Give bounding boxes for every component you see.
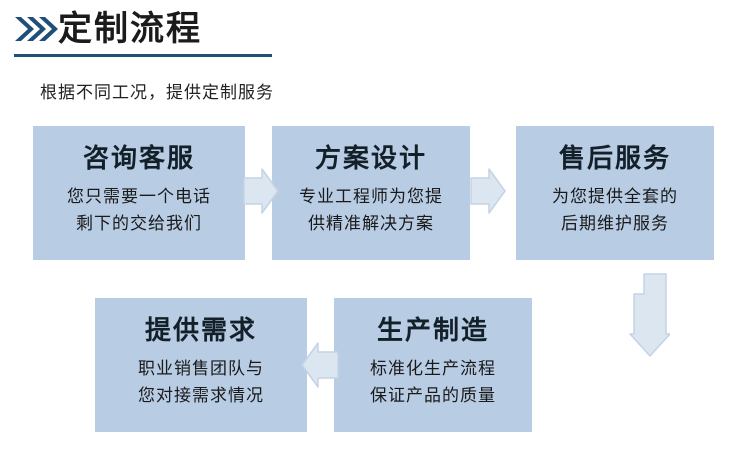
flow-step-consult: 咨询客服 您只需要一个电话 剩下的交给我们 <box>33 126 245 260</box>
flow-step-line: 保证产品的质量 <box>334 382 532 409</box>
flow-step-title: 提供需求 <box>95 315 307 345</box>
page-subtitle: 根据不同工况，提供定制服务 <box>40 78 274 103</box>
arrow-right-icon <box>242 166 280 216</box>
flow-step-line: 您对接需求情况 <box>95 382 307 409</box>
flow-step-line: 您只需要一个电话 <box>33 183 245 210</box>
flow-step-line: 供精准解决方案 <box>272 210 470 237</box>
flow-step-after-sales: 售后服务 为您提供全套的 后期维护服务 <box>516 126 714 260</box>
flow-step-description: 职业销售团队与 您对接需求情况 <box>95 355 307 409</box>
arrow-right-icon <box>469 166 507 216</box>
double-chevron-right-icon <box>14 14 58 44</box>
flow-step-title: 售后服务 <box>516 143 714 173</box>
flow-step-manufacturing: 生产制造 标准化生产流程 保证产品的质量 <box>334 298 532 432</box>
flow-step-description: 您只需要一个电话 剩下的交给我们 <box>33 183 245 237</box>
flow-step-design: 方案设计 专业工程师为您提 供精准解决方案 <box>272 126 470 260</box>
flow-step-description: 标准化生产流程 保证产品的质量 <box>334 355 532 409</box>
flow-step-title: 方案设计 <box>272 143 470 173</box>
flow-step-line: 剩下的交给我们 <box>33 210 245 237</box>
page-title: 定制流程 <box>58 8 202 50</box>
flow-step-line: 为您提供全套的 <box>516 183 714 210</box>
flow-step-title: 咨询客服 <box>33 143 245 173</box>
arrow-left-icon <box>300 340 340 390</box>
flow-step-line: 标准化生产流程 <box>334 355 532 382</box>
arrow-down-left-icon <box>592 272 670 360</box>
flow-step-line: 后期维护服务 <box>516 210 714 237</box>
flow-step-requirements: 提供需求 职业销售团队与 您对接需求情况 <box>95 298 307 432</box>
title-underline <box>14 54 272 57</box>
flow-step-description: 为您提供全套的 后期维护服务 <box>516 183 714 237</box>
flow-step-line: 职业销售团队与 <box>95 355 307 382</box>
page-header: 定制流程 <box>0 0 750 62</box>
flow-step-title: 生产制造 <box>334 315 532 345</box>
flow-step-description: 专业工程师为您提 供精准解决方案 <box>272 183 470 237</box>
flow-step-line: 专业工程师为您提 <box>272 183 470 210</box>
